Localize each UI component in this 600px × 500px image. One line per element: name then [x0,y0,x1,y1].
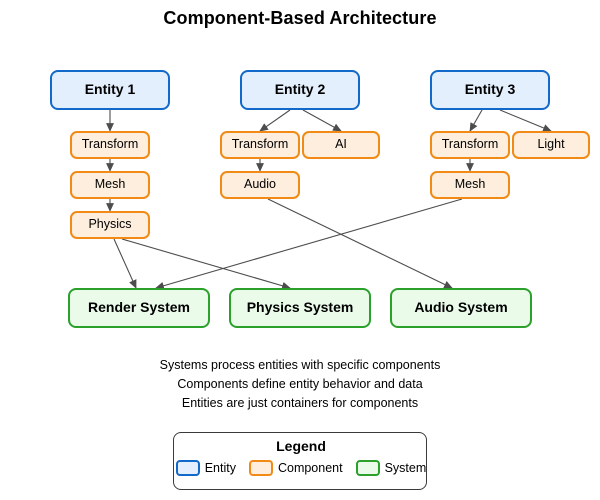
page-title: Component-Based Architecture [0,8,600,29]
component-node-c-physics1[interactable]: Physics [70,211,150,239]
component-node-c-ai2[interactable]: AI [302,131,380,159]
component-node-c-transform3[interactable]: Transform [430,131,510,159]
node-label: Audio [244,178,276,192]
node-label: Physics System [247,300,354,315]
system-swatch-icon [356,460,380,476]
edge-c-physics1-to-sys-render [114,239,136,288]
component-node-c-transform1[interactable]: Transform [70,131,150,159]
node-label: Transform [442,138,499,152]
node-label: Light [537,138,564,152]
component-node-c-mesh3[interactable]: Mesh [430,171,510,199]
note-line-1: Systems process entities with specific c… [0,358,600,372]
component-node-c-mesh1[interactable]: Mesh [70,171,150,199]
node-label: Mesh [455,178,486,192]
edge-entity2-to-c-ai2 [303,110,341,131]
entity-swatch-icon [176,460,200,476]
node-label: Render System [88,300,190,315]
component-node-c-transform2[interactable]: Transform [220,131,300,159]
edge-c-audio2-to-sys-audio [268,199,452,288]
node-label: Audio System [414,300,507,315]
component-swatch-icon [249,460,273,476]
node-label: Transform [82,138,139,152]
legend-label: Component [278,461,343,475]
legend: Legend EntityComponentSystem [173,432,427,490]
component-node-c-light3[interactable]: Light [512,131,590,159]
node-label: AI [335,138,347,152]
legend-item-entity: Entity [176,460,236,476]
node-label: Transform [232,138,289,152]
system-node-sys-physics[interactable]: Physics System [229,288,371,328]
entity-node-entity2[interactable]: Entity 2 [240,70,360,110]
edge-c-physics1-to-sys-physics [122,239,290,288]
legend-item-component: Component [249,460,343,476]
edge-entity2-to-c-transform2 [260,110,290,131]
legend-title: Legend [174,438,428,454]
diagram-canvas: Component-Based Architecture Entity 1Ent… [0,0,600,500]
edge-entity3-to-c-transform3 [470,110,482,131]
legend-label: Entity [205,461,236,475]
note-line-2: Components define entity behavior and da… [0,377,600,391]
note-line-3: Entities are just containers for compone… [0,396,600,410]
component-node-c-audio2[interactable]: Audio [220,171,300,199]
edge-entity3-to-c-light3 [500,110,551,131]
entity-node-entity1[interactable]: Entity 1 [50,70,170,110]
system-node-sys-render[interactable]: Render System [68,288,210,328]
entity-node-entity3[interactable]: Entity 3 [430,70,550,110]
system-node-sys-audio[interactable]: Audio System [390,288,532,328]
node-label: Entity 3 [465,82,516,97]
legend-item-system: System [356,460,427,476]
node-label: Physics [88,218,131,232]
edge-c-mesh3-to-sys-render [156,199,462,288]
node-label: Mesh [95,178,126,192]
node-label: Entity 2 [275,82,326,97]
legend-items: EntityComponentSystem [174,460,428,476]
node-label: Entity 1 [85,82,136,97]
legend-label: System [385,461,427,475]
